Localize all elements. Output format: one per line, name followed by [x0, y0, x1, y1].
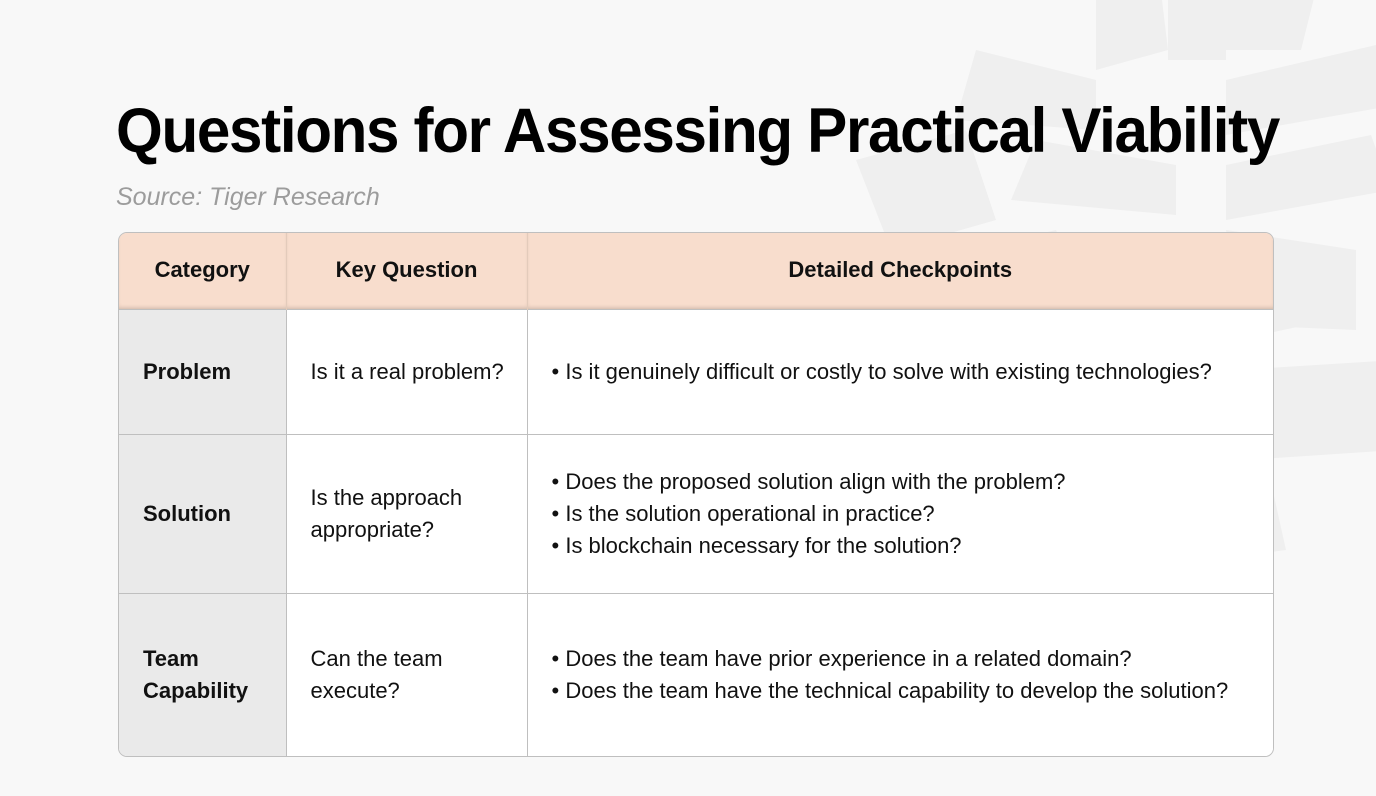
table-row: Problem Is it a real problem? • Is it ge… [119, 310, 1273, 435]
checkpoint-item: • Does the proposed solution align with … [552, 466, 1256, 498]
cell-detailed-checkpoints: • Does the team have prior experience in… [527, 594, 1273, 757]
source-subtitle: Source: Tiger Research [116, 184, 380, 212]
column-header-category: Category [119, 233, 286, 310]
cell-detailed-checkpoints: • Is it genuinely difficult or costly to… [527, 310, 1273, 435]
cell-key-question: Is it a real problem? [286, 310, 527, 435]
column-header-detailed-checkpoints: Detailed Checkpoints [527, 233, 1273, 310]
cell-key-question: Is the approach appropriate? [286, 435, 527, 594]
bullet-icon: • [552, 469, 560, 494]
bullet-icon: • [552, 501, 560, 526]
checkpoint-text: Does the team have the technical capabil… [565, 678, 1228, 703]
bullet-icon: • [552, 533, 560, 558]
cell-category: Team Capability [119, 594, 286, 757]
bullet-icon: • [552, 359, 560, 384]
checkpoint-item: • Is blockchain necessary for the soluti… [552, 530, 1256, 562]
checkpoint-item: • Does the team have prior experience in… [552, 643, 1256, 675]
checkpoint-text: Is it genuinely difficult or costly to s… [565, 359, 1212, 384]
checkpoint-item: • Is it genuinely difficult or costly to… [552, 356, 1256, 388]
page-title: Questions for Assessing Practical Viabil… [116, 100, 1279, 163]
checkpoint-text: Is the solution operational in practice? [565, 501, 934, 526]
slide-canvas: Questions for Assessing Practical Viabil… [0, 0, 1376, 796]
checkpoint-list: • Does the team have prior experience in… [552, 643, 1256, 707]
table-row: Solution Is the approach appropriate? • … [119, 435, 1273, 594]
table-row: Team Capability Can the team execute? • … [119, 594, 1273, 757]
bullet-icon: • [552, 678, 560, 703]
checkpoint-text: Is blockchain necessary for the solution… [565, 533, 961, 558]
bullet-icon: • [552, 646, 560, 671]
column-header-key-question: Key Question [286, 233, 527, 310]
cell-category: Solution [119, 435, 286, 594]
checkpoint-text: Does the proposed solution align with th… [565, 469, 1065, 494]
cell-key-question: Can the team execute? [286, 594, 527, 757]
checkpoint-item: • Does the team have the technical capab… [552, 675, 1256, 707]
table-header-row: Category Key Question Detailed Checkpoin… [119, 233, 1273, 310]
checkpoint-list: • Does the proposed solution align with … [552, 466, 1256, 562]
cell-category: Problem [119, 310, 286, 435]
checkpoint-list: • Is it genuinely difficult or costly to… [552, 356, 1256, 388]
cell-detailed-checkpoints: • Does the proposed solution align with … [527, 435, 1273, 594]
viability-questions-table: Category Key Question Detailed Checkpoin… [118, 232, 1274, 757]
checkpoint-text: Does the team have prior experience in a… [565, 646, 1131, 671]
checkpoint-item: • Is the solution operational in practic… [552, 498, 1256, 530]
